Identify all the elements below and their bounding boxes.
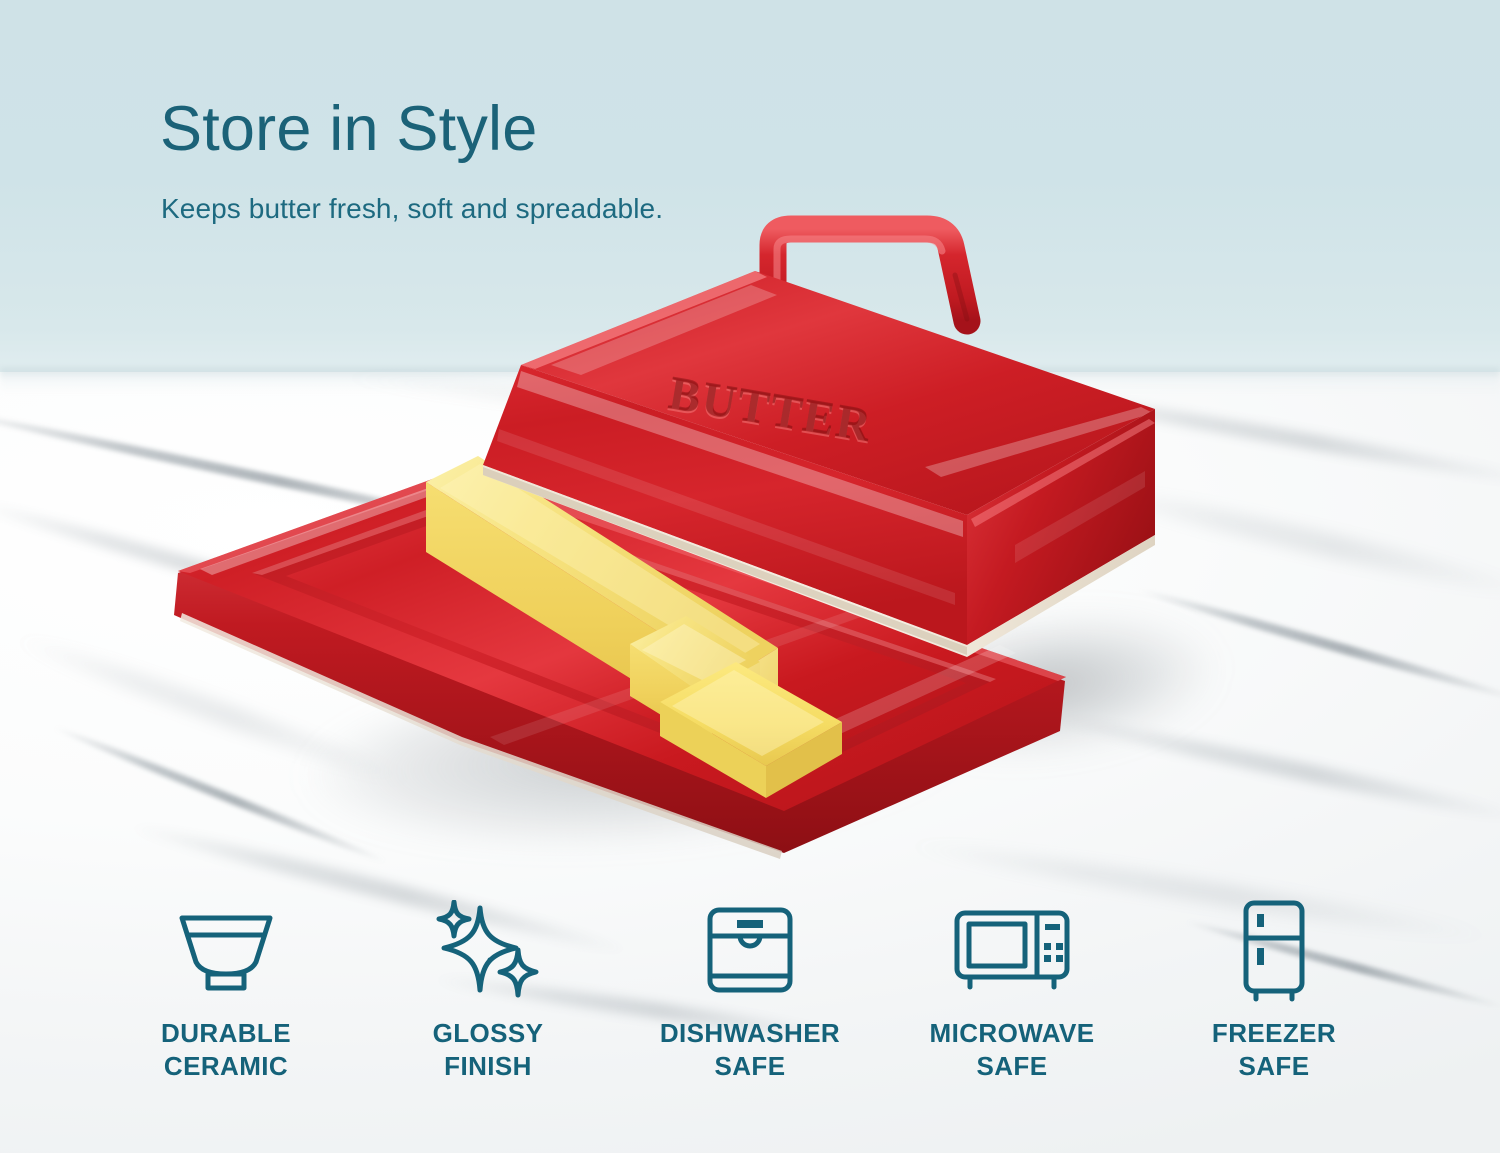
feature-durable-ceramic: DURABLE CERAMIC <box>95 895 357 1084</box>
product-marketing-image: Store in Style Keeps butter fresh, soft … <box>0 0 1500 1153</box>
feature-label: DURABLE CERAMIC <box>161 1017 291 1084</box>
microwave-icon <box>952 895 1072 1005</box>
ceramic-bowl-icon <box>174 895 278 1005</box>
feature-label: MICROWAVE SAFE <box>930 1017 1095 1084</box>
feature-microwave-safe: MICROWAVE SAFE <box>881 895 1143 1084</box>
feature-label: DISHWASHER SAFE <box>660 1017 840 1084</box>
refrigerator-icon <box>1236 895 1312 1005</box>
butter-dish-lid <box>455 215 1235 705</box>
dishwasher-icon <box>704 895 796 1005</box>
feature-dishwasher-safe: DISHWASHER SAFE <box>619 895 881 1084</box>
feature-freezer-safe: FREEZER SAFE <box>1143 895 1405 1084</box>
feature-row: DURABLE CERAMIC GLOSSY FINISH <box>0 895 1500 1125</box>
sparkle-icon <box>432 895 544 1005</box>
feature-label: GLOSSY FINISH <box>433 1017 544 1084</box>
feature-label: FREEZER SAFE <box>1212 1017 1336 1084</box>
feature-glossy-finish: GLOSSY FINISH <box>357 895 619 1084</box>
